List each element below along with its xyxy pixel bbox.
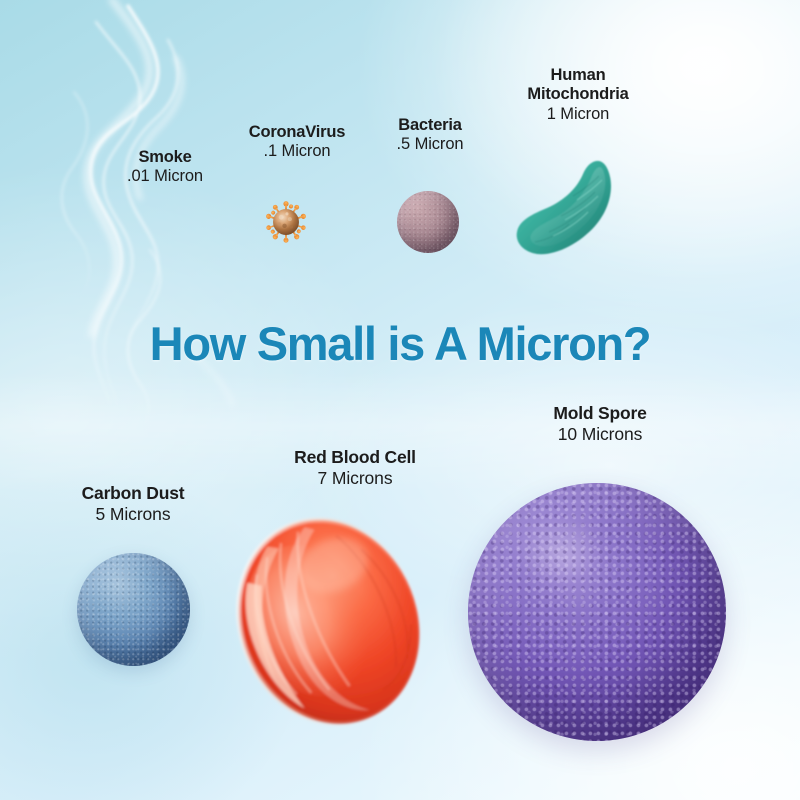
label-mold-spore-name: Mold Spore: [553, 403, 646, 424]
label-mold-spore-size: 10 Microns: [553, 424, 646, 445]
label-smoke-name: Smoke: [127, 148, 203, 167]
label-bacteria-size: .5 Micron: [397, 135, 464, 154]
label-red-blood-cell: Red Blood Cell 7 Microns: [294, 447, 416, 488]
label-smoke: Smoke .01 Micron: [127, 148, 203, 187]
bacteria-sphere-icon: [397, 191, 459, 253]
label-red-blood-cell-size: 7 Microns: [294, 468, 416, 489]
label-human-mitochondria-size: 1 Micron: [527, 105, 628, 124]
label-coronavirus-name: CoronaVirus: [249, 123, 346, 142]
mold-spore-sphere-icon: [468, 483, 726, 741]
mitochondria-icon: [503, 150, 623, 275]
label-bacteria-name: Bacteria: [397, 116, 464, 135]
label-human-mitochondria-name-line1: Human: [527, 66, 628, 85]
label-carbon-dust-size: 5 Microns: [82, 504, 185, 525]
label-carbon-dust-name: Carbon Dust: [82, 483, 185, 504]
coronavirus-particle-icon: [262, 198, 310, 246]
carbon-dust-sphere-icon: [77, 553, 190, 666]
red-blood-cell-icon: [222, 505, 437, 740]
label-mold-spore: Mold Spore 10 Microns: [553, 403, 646, 444]
label-human-mitochondria-name-line2: Mitochondria: [527, 85, 628, 104]
label-coronavirus: CoronaVirus .1 Micron: [249, 123, 346, 162]
label-smoke-size: .01 Micron: [127, 167, 203, 186]
micron-size-infographic: Smoke .01 Micron CoronaVirus .1 Micron B…: [0, 0, 800, 800]
label-coronavirus-size: .1 Micron: [249, 142, 346, 161]
page-title: How Small is A Micron?: [150, 316, 651, 371]
label-carbon-dust: Carbon Dust 5 Microns: [82, 483, 185, 524]
label-red-blood-cell-name: Red Blood Cell: [294, 447, 416, 468]
label-human-mitochondria: Human Mitochondria 1 Micron: [527, 66, 628, 124]
label-bacteria: Bacteria .5 Micron: [397, 116, 464, 155]
